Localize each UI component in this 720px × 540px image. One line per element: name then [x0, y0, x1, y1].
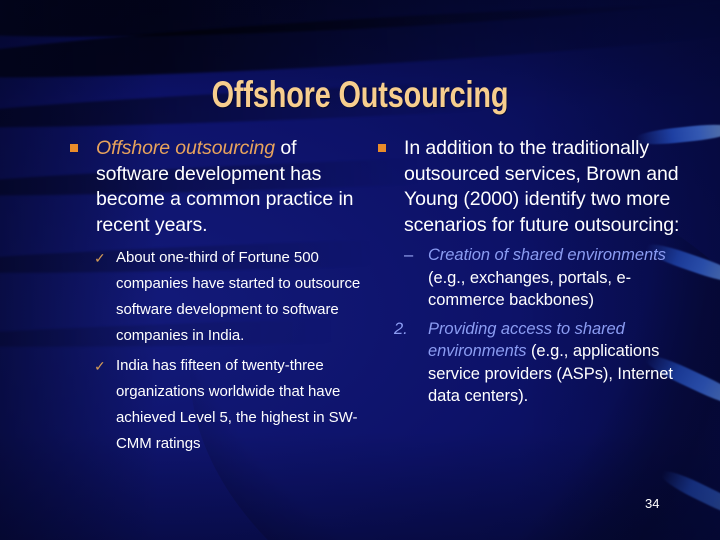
left-sub-list: ✓ About one-third of Fortune 500 compani…: [58, 245, 370, 457]
left-content-column: Offshore outsourcing of software develop…: [58, 136, 370, 461]
slide-title: Offshore Outsourcing: [79, 74, 641, 116]
dash-bullet-icon: –: [404, 244, 413, 267]
left-main-emphasis: Offshore outsourcing: [96, 137, 275, 159]
right-sub-item-1: – Creation of shared environments (e.g.,…: [366, 244, 692, 312]
left-sub-item-1-text: About one-third of Fortune 500 companies…: [116, 249, 360, 344]
left-main-bullet: Offshore outsourcing of software develop…: [58, 136, 370, 238]
square-bullet-icon: [70, 144, 78, 152]
number-bullet-icon: 2.: [394, 318, 408, 341]
presentation-slide: Offshore Outsourcing Offshore outsourcin…: [0, 0, 720, 540]
right-sub-item-1-text: (e.g., exchanges, portals, e-commerce ba…: [428, 269, 631, 310]
right-main-bullet: In addition to the traditionally outsour…: [366, 136, 692, 238]
right-sub-item-2: 2. Providing access to shared environmen…: [366, 318, 692, 408]
left-sub-item-2: ✓ India has fifteen of twenty-three orga…: [58, 353, 370, 457]
right-main-text: In addition to the traditionally outsour…: [404, 137, 679, 236]
right-sub-item-1-emphasis: Creation of shared environments: [428, 246, 666, 264]
square-bullet-icon: [378, 144, 386, 152]
check-bullet-icon: ✓: [94, 245, 106, 271]
right-content-column: In addition to the traditionally outsour…: [366, 136, 692, 408]
check-bullet-icon: ✓: [94, 353, 106, 379]
slide-number: 34: [645, 496, 659, 512]
left-sub-item-1: ✓ About one-third of Fortune 500 compani…: [58, 245, 370, 349]
left-sub-item-2-text: India has fifteen of twenty-three organi…: [116, 357, 357, 452]
